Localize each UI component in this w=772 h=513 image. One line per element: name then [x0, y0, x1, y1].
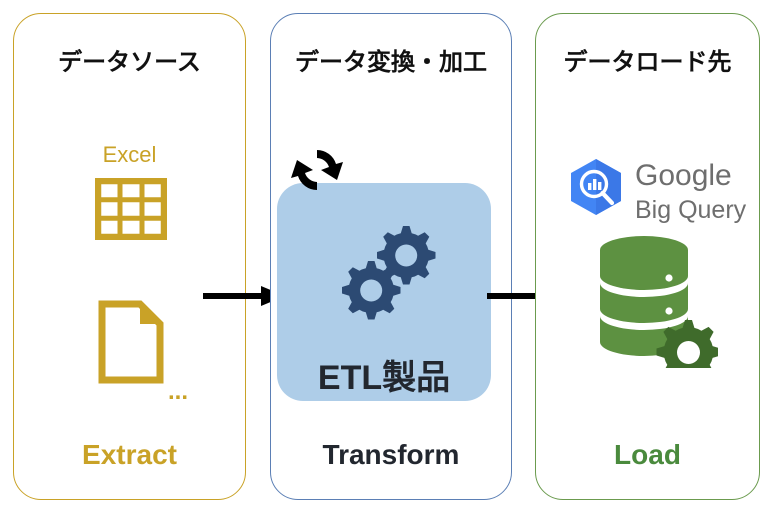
gears-icon	[337, 216, 439, 320]
panel-extract-footer: Extract	[14, 439, 245, 471]
document-file-icon	[98, 300, 164, 384]
panel-load-footer: Load	[536, 439, 759, 471]
bigquery-logo: Google Big Query	[565, 155, 751, 227]
more-sources-ellipsis: ...	[168, 380, 188, 404]
gear-icon	[657, 320, 719, 368]
panel-load-title: データロード先	[536, 42, 759, 77]
panel-transform-footer: Transform	[271, 439, 511, 471]
sync-refresh-icon	[285, 142, 349, 198]
panel-transform-title: データ変換・加工	[271, 42, 511, 77]
etl-product-label: ETL製品	[277, 350, 491, 399]
database-cylinder-icon	[594, 228, 718, 368]
database-indicator-dot	[665, 274, 672, 281]
source-label-excel: Excel	[14, 142, 245, 168]
bigquery-hexagon-icon	[571, 159, 621, 215]
panel-extract: データソース Excel Extract	[13, 13, 246, 500]
spreadsheet-table-icon	[95, 178, 167, 240]
diagram-canvas: データソース Excel Extract CSV ... データ変換・加工 Tr…	[0, 0, 772, 513]
bigquery-product-text: Big Query	[635, 196, 747, 224]
bigquery-brand-text: Google	[635, 159, 732, 192]
database-indicator-dot	[665, 307, 672, 314]
panel-extract-title: データソース	[14, 42, 245, 77]
